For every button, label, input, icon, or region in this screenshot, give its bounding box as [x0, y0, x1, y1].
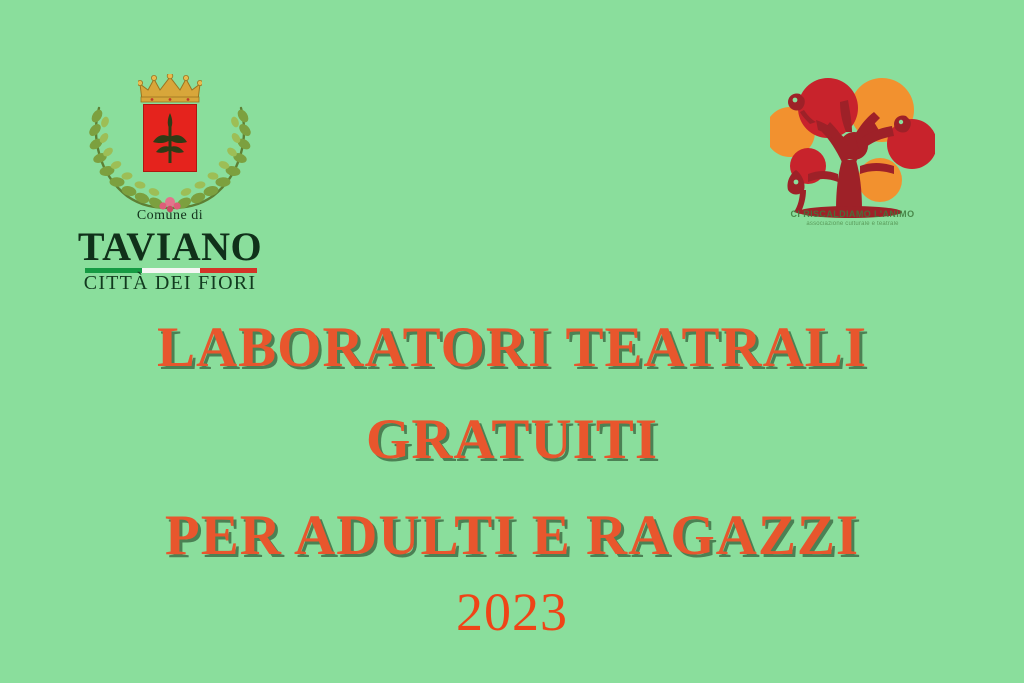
crown-icon: [138, 74, 202, 104]
citta-dei-fiori-motto: CITTÀ DEI FIORI: [75, 272, 265, 295]
tree-logo-subcaption: associazione culturale e teatrale: [770, 221, 935, 227]
headline-line-3: PER ADULTI E RAGAZZI: [0, 500, 1024, 572]
tree-logo-caption: CI RISCALDIAMO L'ANIMO: [770, 209, 935, 219]
poster-canvas: Comune di TAVIANO CITTÀ DEI FIORI: [0, 0, 1024, 683]
headline-block: LABORATORI TEATRALI GRATUITI PER ADULTI …: [0, 312, 1024, 642]
headline-year: 2023: [0, 582, 1024, 642]
headline-line-2: GRATUITI: [0, 404, 1024, 476]
taviano-crest: [75, 68, 265, 218]
tree-association-logo: CI RISCALDIAMO L'ANIMO associazione cult…: [770, 70, 935, 245]
tree-icon: [770, 70, 935, 220]
taviano-wordmark: TAVIANO: [75, 226, 265, 268]
laurel-wreath-icon: [89, 102, 251, 214]
comune-label: Comune di: [75, 208, 265, 224]
fruit-red-right: [887, 119, 935, 169]
headline-line-1: LABORATORI TEATRALI: [0, 312, 1024, 384]
comune-di-taviano-logo: Comune di TAVIANO CITTÀ DEI FIORI: [75, 68, 265, 298]
